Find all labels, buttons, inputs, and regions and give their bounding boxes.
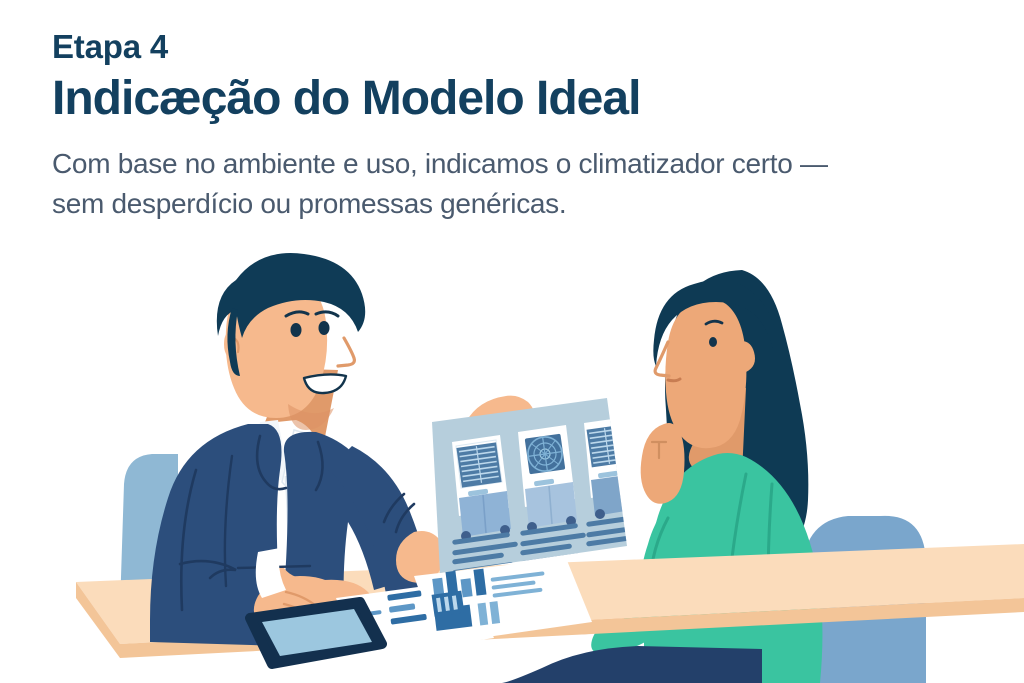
man-smile — [304, 374, 346, 393]
man-nose — [338, 338, 354, 366]
man-eye-left — [291, 323, 302, 337]
subtitle-line-2: sem desperdício ou promessas genéricas. — [52, 184, 982, 224]
woman-eye — [709, 337, 717, 347]
woman-face — [665, 299, 746, 449]
step-eyebrow: Etapa 4 — [52, 28, 992, 67]
page-title: Indicæção do Modelo Ideal — [52, 71, 992, 128]
page-subtitle: Com base no ambiente e uso, indicamos o … — [52, 144, 982, 224]
slide-root: Etapa 4 Indicæção do Modelo Ideal Com ba… — [0, 0, 1024, 683]
woman-trousers — [502, 646, 762, 683]
text-block: Etapa 4 Indicæção do Modelo Ideal Com ba… — [52, 28, 992, 224]
brochure[interactable] — [432, 398, 652, 575]
woman-hand-chin — [641, 423, 685, 504]
sales-consultation-scene — [0, 246, 1024, 683]
man-eye-right — [319, 321, 330, 335]
illustration — [0, 246, 1024, 683]
subtitle-line-1: Com base no ambiente e uso, indicamos o … — [52, 144, 982, 184]
